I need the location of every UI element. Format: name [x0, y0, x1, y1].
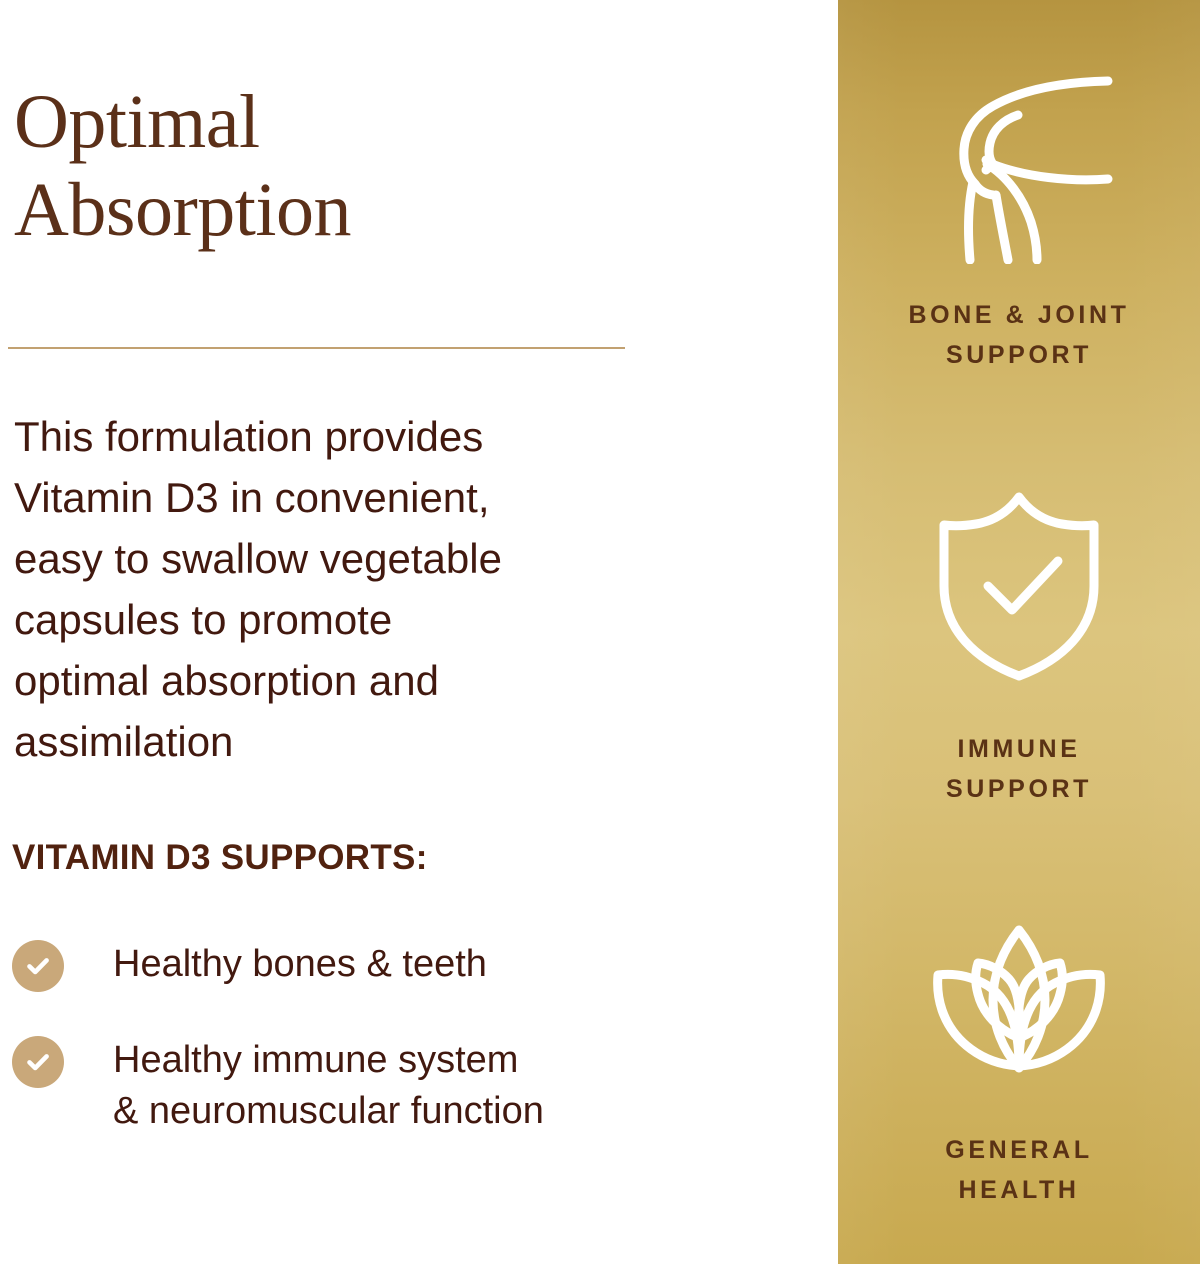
page-title: Optimal Absorption	[14, 78, 714, 254]
feature-general-health: GENERAL HEALTH	[838, 908, 1200, 1210]
list-item: Healthy immune system & neuromuscular fu…	[12, 1034, 712, 1137]
left-content-column: Optimal Absorption This formulation prov…	[0, 0, 838, 1264]
feature-general-health-label: GENERAL HEALTH	[838, 1130, 1200, 1210]
list-item: Healthy bones & teeth	[12, 938, 712, 992]
feature-bone-joint: BONE & JOINT SUPPORT	[838, 56, 1200, 375]
page-title-line-1: Optimal	[14, 78, 714, 166]
title-divider	[8, 347, 625, 349]
body-line-4: capsules to promote	[14, 589, 654, 650]
benefits-list: Healthy bones & teeth Healthy immune sys…	[12, 938, 712, 1137]
feature-immune-label: IMMUNE SUPPORT	[838, 729, 1200, 809]
supports-heading: VITAMIN D3 SUPPORTS:	[12, 838, 428, 878]
knee-joint-icon	[838, 56, 1200, 271]
body-line-5: optimal absorption and	[14, 650, 654, 711]
features-gold-panel: BONE & JOINT SUPPORT IMMUNE SUPPORT	[838, 0, 1200, 1264]
body-paragraph: This formulation provides Vitamin D3 in …	[14, 406, 654, 772]
page-title-line-2: Absorption	[14, 166, 714, 254]
check-circle-icon	[12, 940, 64, 992]
body-line-1: This formulation provides	[14, 406, 654, 467]
body-line-2: Vitamin D3 in convenient,	[14, 467, 654, 528]
lotus-flower-icon	[838, 908, 1200, 1088]
list-item-text: Healthy bones & teeth	[113, 938, 487, 990]
benefit-2-line-1: Healthy immune system	[113, 1035, 544, 1086]
product-infographic: Optimal Absorption This formulation prov…	[0, 0, 1200, 1264]
feature-general-health-label-line-2: HEALTH	[838, 1170, 1200, 1210]
benefit-2-line-2: & neuromuscular function	[113, 1086, 544, 1137]
feature-general-health-label-line-1: GENERAL	[838, 1130, 1200, 1170]
check-circle-icon	[12, 1036, 64, 1088]
list-item-text: Healthy immune system & neuromuscular fu…	[113, 1034, 544, 1137]
feature-bone-joint-label-line-1: BONE & JOINT	[838, 295, 1200, 335]
benefit-1-line-1: Healthy bones & teeth	[113, 939, 487, 990]
feature-bone-joint-label: BONE & JOINT SUPPORT	[838, 295, 1200, 375]
feature-immune-label-line-2: SUPPORT	[838, 769, 1200, 809]
body-line-3: easy to swallow vegetable	[14, 528, 654, 589]
shield-check-icon	[838, 486, 1200, 686]
feature-immune-label-line-1: IMMUNE	[838, 729, 1200, 769]
feature-bone-joint-label-line-2: SUPPORT	[838, 335, 1200, 375]
body-line-6: assimilation	[14, 711, 654, 772]
feature-immune: IMMUNE SUPPORT	[838, 486, 1200, 809]
